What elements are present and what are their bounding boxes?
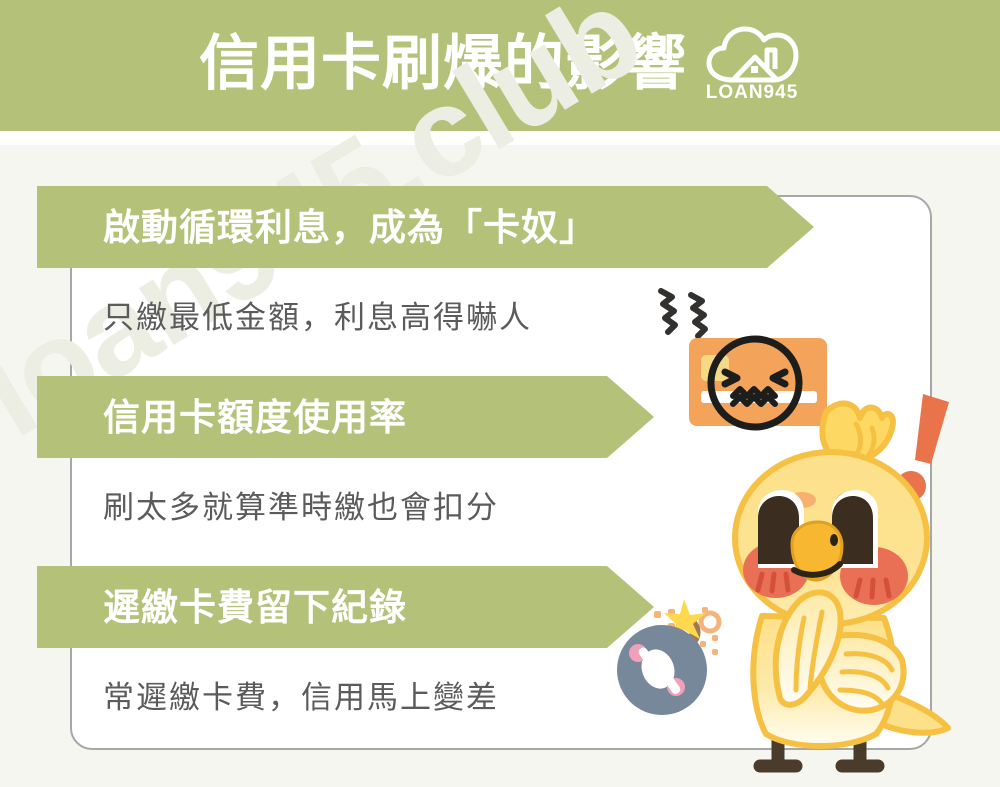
- section-banner-3: 遲繳卡費留下紀錄: [37, 566, 607, 648]
- section-subtitle-3: 常遲繳卡費，信用馬上變差: [103, 672, 499, 717]
- section-banner-1: 啟動循環利息，成為「卡奴」: [37, 186, 767, 268]
- section-title-3: 遲繳卡費留下紀錄: [103, 589, 407, 626]
- page-title: 信用卡刷爆的影響: [199, 34, 687, 94]
- infographic-canvas: 信用卡刷爆的影響 LOAN945 loan945.club: [0, 0, 1000, 787]
- section-title-2: 信用卡額度使用率: [103, 399, 407, 436]
- cloud-house-icon: [703, 26, 801, 84]
- section-banner-2: 信用卡額度使用率: [37, 376, 607, 458]
- section-subtitle-2: 刷太多就算準時繳也會扣分: [103, 482, 499, 527]
- section-subtitle-1: 只繳最低金額，利息高得嚇人: [103, 292, 532, 337]
- header-band: 信用卡刷爆的影響 LOAN945: [0, 0, 1000, 131]
- header-content: 信用卡刷爆的影響 LOAN945: [199, 26, 801, 102]
- header-divider: [0, 131, 1000, 145]
- logo-wordmark: LOAN945: [703, 82, 801, 104]
- cockatiel-mascot-icon: [700, 398, 1000, 787]
- loan945-logo: LOAN945: [703, 26, 801, 102]
- section-title-1: 啟動循環利息，成為「卡奴」: [103, 209, 597, 246]
